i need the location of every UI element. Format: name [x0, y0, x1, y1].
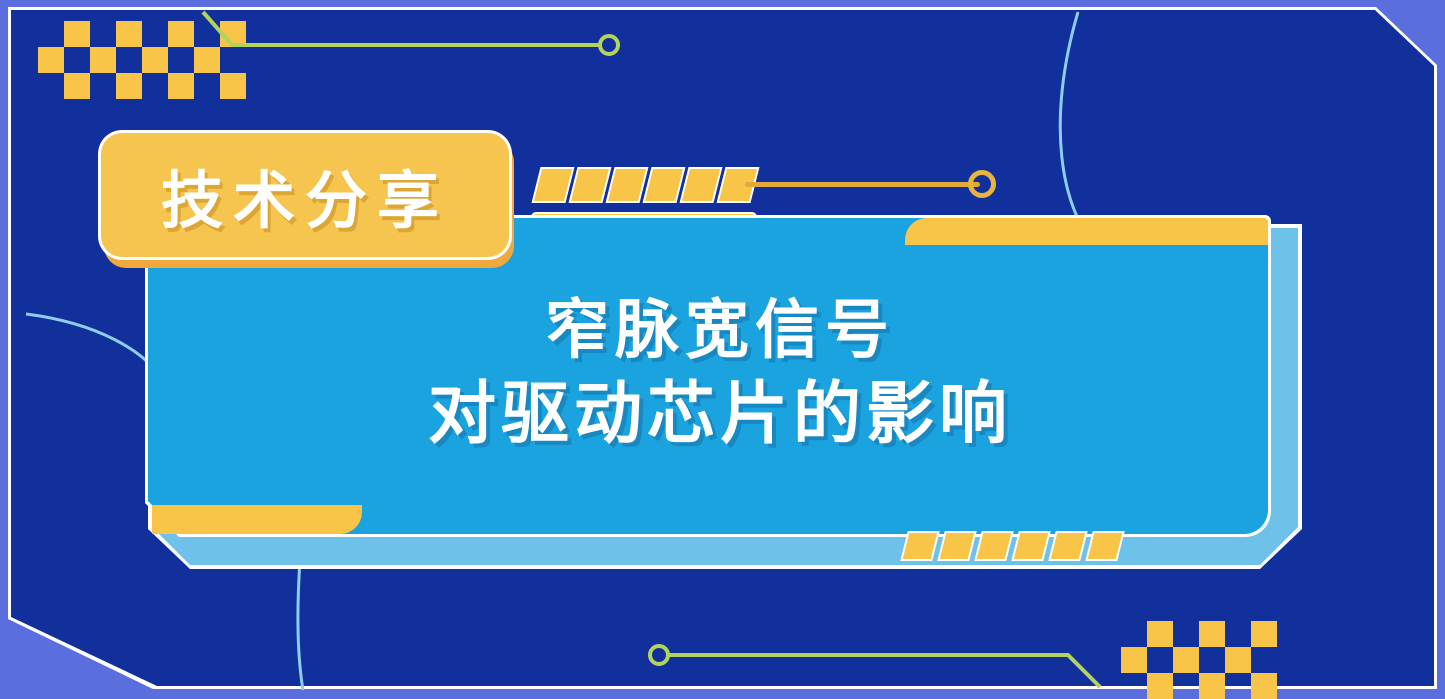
card-top-accent-bar: [905, 218, 1268, 245]
tick-bar: [608, 169, 646, 201]
connector-line-top: [0, 0, 700, 90]
card-bottom-accent-bar: [152, 505, 362, 534]
category-badge: 技术分享: [101, 133, 509, 257]
tick-bar: [645, 169, 683, 201]
poster-title: 窄脉宽信号 对驱动芯片的影响: [340, 288, 1100, 456]
tick-rail-line: [745, 182, 980, 187]
connector-ring-icon: [968, 170, 996, 198]
tick-bar: [682, 169, 720, 201]
title-line-2: 对驱动芯片的影响: [340, 372, 1100, 456]
title-line-1: 窄脉宽信号: [340, 288, 1100, 372]
badge-label: 技术分享: [161, 150, 449, 240]
tick-bar: [534, 169, 572, 201]
poster-canvas: 窄脉宽信号 对驱动芯片的影响 技术分享: [0, 0, 1445, 697]
tick-bars-decor: [538, 169, 753, 201]
tick-bar: [571, 169, 609, 201]
checkerboard-bottom-right-icon: [1121, 621, 1277, 699]
